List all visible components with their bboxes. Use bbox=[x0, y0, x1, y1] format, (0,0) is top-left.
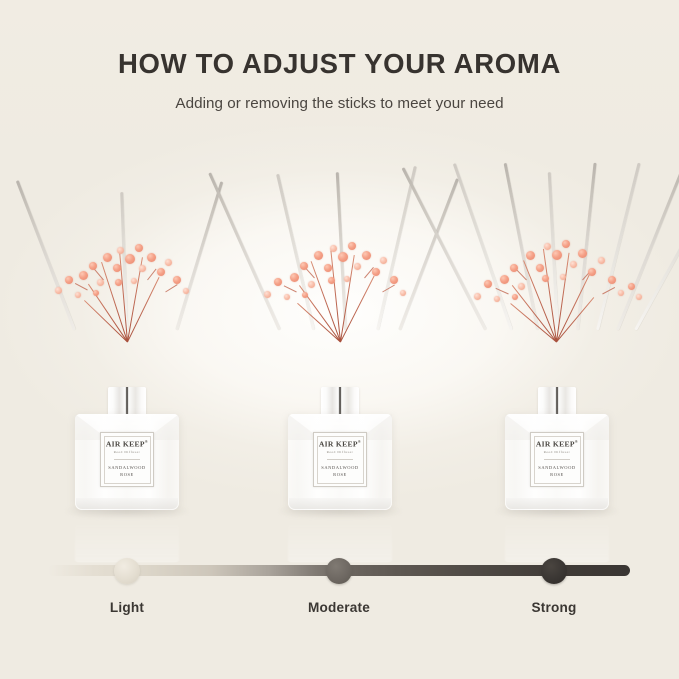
flower-bloom bbox=[542, 275, 549, 282]
flower-twig bbox=[165, 284, 177, 292]
flower-bloom bbox=[510, 264, 518, 272]
flower-bloom bbox=[328, 277, 335, 284]
label-tagline: Reed Diffuser bbox=[327, 451, 354, 454]
flower-bloom bbox=[362, 251, 371, 260]
dried-flowers-strong bbox=[452, 222, 662, 342]
flower-bloom bbox=[354, 263, 361, 270]
flower-twig bbox=[382, 285, 395, 293]
page-subtitle: Adding or removing the sticks to meet yo… bbox=[0, 78, 679, 111]
registered-mark-icon: ® bbox=[358, 439, 361, 444]
flower-bloom bbox=[274, 278, 282, 286]
flower-bloom bbox=[173, 276, 181, 284]
bottle-base-band bbox=[289, 498, 391, 509]
registered-mark-icon: ® bbox=[145, 439, 148, 444]
flower-bloom bbox=[284, 294, 290, 300]
flower-bloom bbox=[636, 294, 642, 300]
flower-bloom bbox=[314, 251, 323, 260]
flower-bloom bbox=[131, 278, 137, 284]
flower-twig bbox=[516, 270, 526, 281]
infographic-canvas: HOW TO ADJUST YOUR AROMA Adding or remov… bbox=[0, 0, 679, 679]
flower-bloom bbox=[570, 261, 577, 268]
flower-bloom bbox=[330, 245, 337, 252]
flower-bloom bbox=[526, 251, 535, 260]
flower-bloom bbox=[562, 240, 570, 248]
slider-dot-strong[interactable] bbox=[541, 558, 567, 584]
label-scent: SANDALWOOD ROSE bbox=[108, 465, 145, 479]
flower-bloom bbox=[290, 273, 299, 282]
flower-bloom bbox=[400, 290, 406, 296]
flower-bloom bbox=[89, 262, 97, 270]
slider-label-strong: Strong bbox=[494, 600, 614, 615]
dried-flowers-moderate bbox=[240, 222, 440, 342]
page-title: HOW TO ADJUST YOUR AROMA bbox=[0, 0, 679, 78]
flower-bloom bbox=[135, 244, 143, 252]
flower-bloom bbox=[544, 243, 551, 250]
flower-bloom bbox=[494, 296, 500, 302]
bottle-base-band bbox=[76, 498, 178, 509]
header: HOW TO ADJUST YOUR AROMA Adding or remov… bbox=[0, 0, 679, 111]
flower-bloom bbox=[300, 262, 308, 270]
flower-bloom bbox=[103, 253, 112, 262]
flower-bloom bbox=[348, 242, 356, 250]
flower-bloom bbox=[324, 264, 332, 272]
flower-bloom bbox=[588, 268, 596, 276]
product-label: AIR KEEP® Reed Diffuser SANDALWOOD ROSE bbox=[100, 432, 154, 487]
flower-stem bbox=[510, 303, 557, 343]
flower-bloom bbox=[484, 280, 492, 288]
flower-twig bbox=[147, 269, 156, 281]
flower-bloom bbox=[536, 264, 544, 272]
flower-bloom bbox=[147, 253, 156, 262]
flower-bloom bbox=[598, 257, 605, 264]
flower-bloom bbox=[157, 268, 165, 276]
label-brand: AIR KEEP® bbox=[536, 440, 578, 448]
flower-bloom bbox=[512, 294, 518, 300]
flower-bloom bbox=[264, 291, 271, 298]
flower-bloom bbox=[618, 290, 624, 296]
label-tagline: Reed Diffuser bbox=[544, 451, 571, 454]
flower-bloom bbox=[79, 271, 88, 280]
flower-bloom bbox=[308, 281, 315, 288]
intensity-slider[interactable]: Light Moderate Strong bbox=[0, 540, 679, 640]
flower-bloom bbox=[115, 279, 122, 286]
product-scene: AIR KEEP® Reed Diffuser SANDALWOOD ROSE bbox=[0, 150, 679, 520]
flower-bloom bbox=[75, 292, 81, 298]
dried-flowers-light bbox=[27, 222, 227, 342]
flower-bloom bbox=[628, 283, 635, 290]
flower-twig bbox=[496, 288, 509, 295]
flower-bloom bbox=[372, 268, 380, 276]
product-label: AIR KEEP® Reed Diffuser SANDALWOOD ROSE bbox=[313, 432, 367, 487]
label-scent: SANDALWOOD ROSE bbox=[538, 465, 575, 479]
slider-dot-light[interactable] bbox=[114, 558, 140, 584]
slider-label-moderate: Moderate bbox=[279, 600, 399, 615]
flower-twig bbox=[284, 285, 297, 292]
flower-bloom bbox=[139, 265, 146, 272]
flower-bloom bbox=[302, 292, 308, 298]
flower-twig bbox=[75, 283, 88, 290]
bottle-base-band bbox=[506, 498, 608, 509]
product-label: AIR KEEP® Reed Diffuser SANDALWOOD ROSE bbox=[530, 432, 584, 487]
flower-bloom bbox=[97, 279, 104, 286]
flower-bloom bbox=[578, 249, 587, 258]
flower-bloom bbox=[117, 247, 124, 254]
flower-bloom bbox=[344, 276, 350, 282]
label-divider bbox=[327, 459, 353, 460]
label-brand: AIR KEEP® bbox=[106, 440, 148, 448]
flower-bloom bbox=[113, 264, 121, 272]
flower-bloom bbox=[608, 276, 616, 284]
flower-bloom bbox=[125, 254, 135, 264]
flower-bloom bbox=[65, 276, 73, 284]
label-divider bbox=[114, 459, 140, 460]
flower-bloom bbox=[93, 290, 99, 296]
flower-bloom bbox=[165, 259, 172, 266]
slider-label-light: Light bbox=[67, 600, 187, 615]
label-scent: SANDALWOOD ROSE bbox=[321, 465, 358, 479]
label-brand: AIR KEEP® bbox=[319, 440, 361, 448]
label-divider bbox=[544, 459, 570, 460]
flower-bloom bbox=[518, 283, 525, 290]
flower-bloom bbox=[338, 252, 348, 262]
flower-bloom bbox=[552, 250, 562, 260]
flower-bloom bbox=[380, 257, 387, 264]
registered-mark-icon: ® bbox=[575, 439, 578, 444]
flower-bloom bbox=[500, 275, 509, 284]
flower-bloom bbox=[55, 287, 62, 294]
flower-stem bbox=[523, 260, 557, 342]
label-tagline: Reed Diffuser bbox=[114, 451, 141, 454]
flower-bloom bbox=[560, 274, 566, 280]
slider-dot-moderate[interactable] bbox=[326, 558, 352, 584]
flower-bloom bbox=[390, 276, 398, 284]
flower-bloom bbox=[474, 293, 481, 300]
flower-twig bbox=[602, 287, 615, 294]
flower-bloom bbox=[183, 288, 189, 294]
